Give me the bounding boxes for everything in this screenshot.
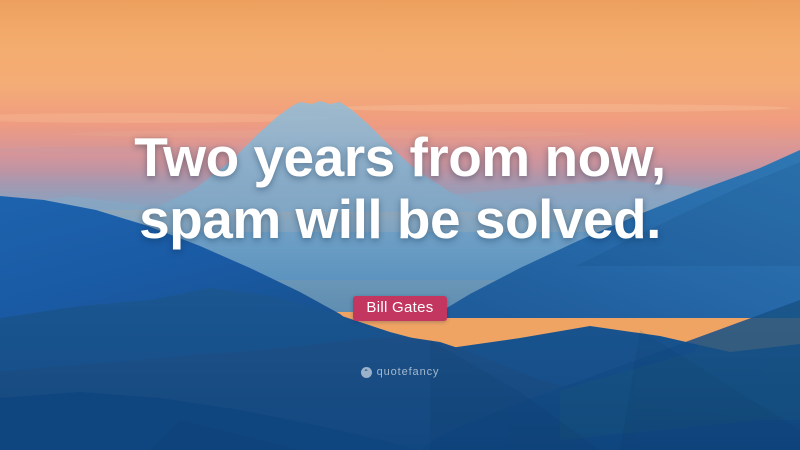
watermark-brand: quotefancy (377, 366, 440, 378)
quote-line-1: Two years from now, (60, 126, 740, 188)
text-overlay: Two years from now, spam will be solved.… (0, 0, 800, 450)
quote-poster: Two years from now, spam will be solved.… (0, 0, 800, 450)
author-name-badge: Bill Gates (353, 296, 446, 321)
quote-line-2: spam will be solved. (60, 188, 740, 250)
quote-mark-icon: “ (361, 367, 372, 378)
watermark[interactable]: “ quotefancy (0, 366, 800, 378)
author-attribution: Bill Gates (0, 296, 800, 321)
quote-block: Two years from now, spam will be solved. (0, 126, 800, 250)
